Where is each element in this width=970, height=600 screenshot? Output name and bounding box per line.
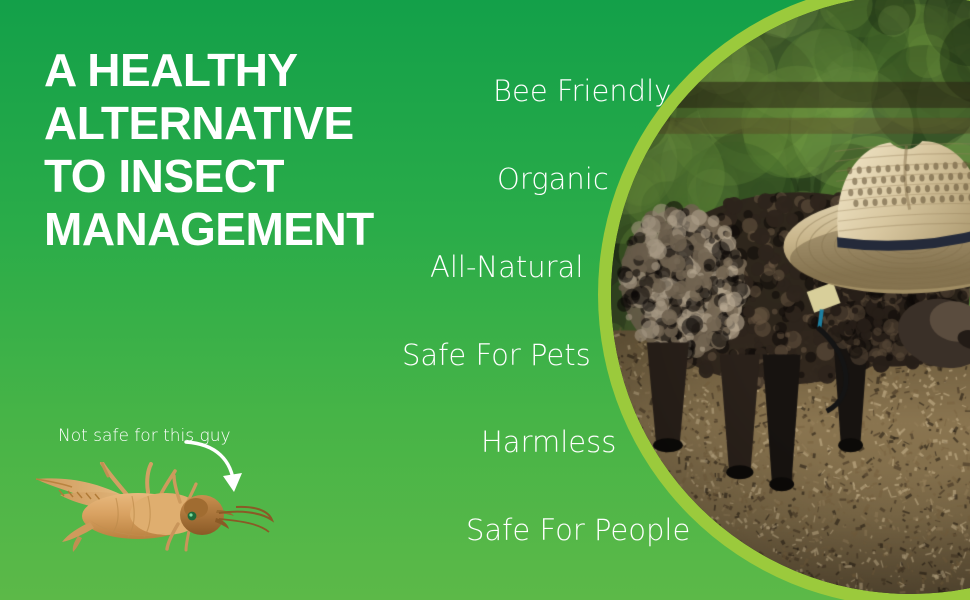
dead-cricket-icon <box>20 462 285 557</box>
feature-item-all-natural: All-Natural <box>430 250 583 284</box>
feature-item-safe-for-pets: Safe For Pets <box>402 338 591 372</box>
cricket-callout-label: Not safe for this guy <box>58 425 231 447</box>
feature-list: Bee Friendly Organic All-Natural Safe Fo… <box>330 50 698 570</box>
promo-banner: A HEALTHY ALTERNATIVE TO INSECT MANAGEME… <box>0 0 970 600</box>
feature-item-bee-friendly: Bee Friendly <box>493 74 671 108</box>
feature-item-harmless: Harmless <box>481 425 616 459</box>
feature-item-safe-for-people: Safe For People <box>466 513 690 547</box>
feature-item-organic: Organic <box>497 162 609 196</box>
